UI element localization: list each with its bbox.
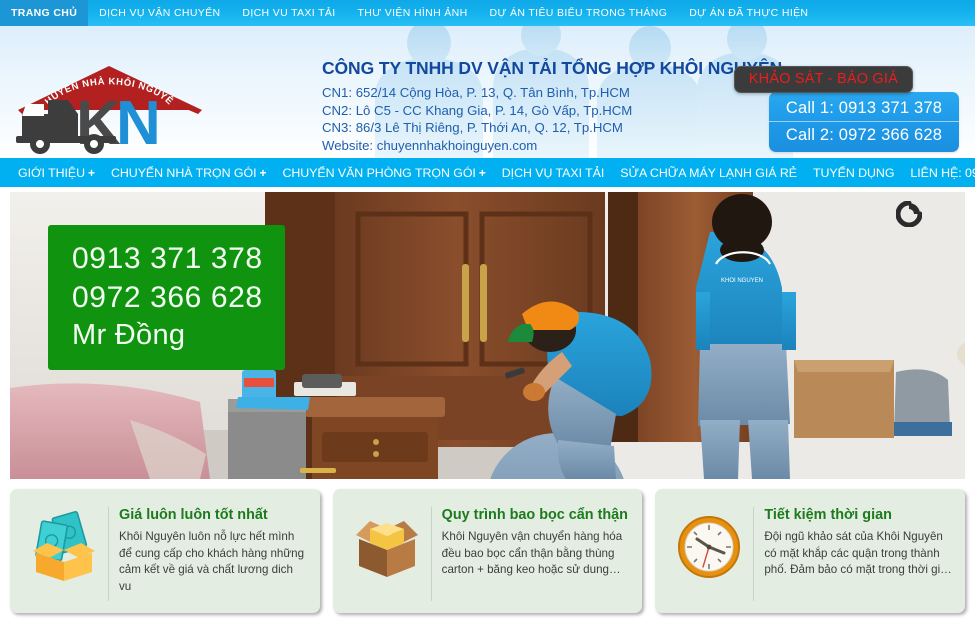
feature-cards: Giá luôn luôn tốt nhất Khôi Nguyên luôn …: [0, 479, 975, 613]
expand-plus-icon: +: [88, 166, 95, 180]
menu-item-label: CHUYỂN VĂN PHÒNG TRỌN GÓI: [282, 166, 475, 180]
topbar-item-label: THƯ VIỆN HÌNH ẢNH: [358, 7, 468, 19]
logo-graphic: CHUYỂN NHÀ KHÔI NGUYÊN K N: [12, 64, 208, 156]
company-logo[interactable]: CHUYỂN NHÀ KHÔI NGUYÊN K N: [12, 64, 208, 156]
loading-spinner-icon: [896, 201, 922, 227]
feature-card-packing[interactable]: Quy trình bao bọc cẩn thận Khôi Nguyên v…: [333, 489, 643, 613]
feature-card-time[interactable]: Tiết kiệm thời gian Đội ngũ khảo sát của…: [655, 489, 965, 613]
menu-item-label: LIÊN HỆ: 0913 371 378: [910, 166, 975, 180]
company-address-1: CN1: 652/14 Cộng Hòa, P. 13, Q. Tân Bình…: [322, 84, 782, 102]
hero-slider[interactable]: KHOI NGUYEN 0913 371 378 0972 366 628 M: [10, 192, 965, 479]
call-number-2[interactable]: Call 2: 0972 366 628: [769, 122, 959, 146]
company-address-2: CN2: Lô C5 - CC Khang Gia, P. 14, Gò Vấp…: [322, 102, 782, 120]
card-text: Khôi Nguyên vận chuyển hàng hóa đều bao …: [442, 529, 631, 579]
clock-icon: [667, 505, 751, 583]
menu-item-chuyen-van-phong-tron-goi[interactable]: CHUYỂN VĂN PHÒNG TRỌN GÓI +: [274, 158, 493, 187]
svg-text:KHOI NGUYEN: KHOI NGUYEN: [721, 278, 763, 284]
call-number-1[interactable]: Call 1: 0913 371 378: [769, 97, 959, 122]
card-title: Giá luôn luôn tốt nhất: [119, 506, 308, 524]
card-title: Tiết kiệm thời gian: [764, 506, 953, 524]
company-website[interactable]: Website: chuyennhakhoinguyen.com: [322, 137, 782, 155]
card-text: Đội ngũ khảo sát của Khôi Nguyên có mặt …: [764, 529, 953, 579]
topbar-item-dich-vu-van-chuyen[interactable]: DỊCH VỤ VẬN CHUYỂN: [88, 0, 231, 26]
menu-item-label: GIỚI THIỆU: [18, 166, 85, 180]
hero-phone-box: 0913 371 378 0972 366 628 Mr Đồng: [48, 225, 285, 370]
menu-item-tuyen-dung[interactable]: TUYỂN DỤNG: [805, 158, 902, 187]
company-address-3: CN3: 86/3 Lê Thị Riêng, P. Thới An, Q. 1…: [322, 119, 782, 137]
topbar-item-trang-chu[interactable]: TRANG CHỦ: [0, 0, 88, 26]
topbar-item-label: DỰ ÁN TIÊU BIỂU TRONG THÁNG: [490, 7, 668, 19]
top-navigation-bar: TRANG CHỦ DỊCH VỤ VẬN CHUYỂN DỊCH VU TAX…: [0, 0, 975, 26]
card-divider: [431, 507, 432, 601]
menu-item-dich-vu-taxi-tai[interactable]: DỊCH VỤ TAXI TẢI: [494, 158, 612, 187]
survey-quote-button[interactable]: KHẢO SÁT - BÁO GIÁ: [734, 66, 913, 93]
topbar-item-label: TRANG CHỦ: [11, 7, 77, 19]
carton-box-icon: [345, 505, 429, 583]
topbar-item-du-an-da-thuc-hien[interactable]: DỰ ÁN ĐÃ THỰC HIỆN: [678, 0, 819, 26]
main-navigation-menu: GIỚI THIỆU + CHUYỂN NHÀ TRỌN GÓI + CHUYỂ…: [0, 158, 975, 187]
card-divider: [108, 507, 109, 601]
menu-item-gioi-thieu[interactable]: GIỚI THIỆU +: [10, 158, 103, 187]
card-divider: [753, 507, 754, 601]
money-box-icon: [22, 505, 106, 583]
expand-plus-icon: +: [479, 166, 486, 180]
menu-item-label: SỬA CHỮA MÁY LẠNH GIÁ RẺ: [620, 166, 797, 180]
hero-phone-2[interactable]: 0972 366 628: [72, 278, 263, 317]
expand-plus-icon: +: [259, 166, 266, 180]
site-header: CHUYỂN NHÀ KHÔI NGUYÊN K N CÔNG TY TNHH …: [0, 26, 975, 158]
topbar-item-label: DỊCH VỤ VẬN CHUYỂN: [99, 7, 220, 19]
topbar-item-label: DỊCH VU TAXI TẢI: [242, 7, 335, 19]
menu-item-label: DỊCH VỤ TAXI TẢI: [502, 166, 604, 180]
company-name: CÔNG TY TNHH DV VẬN TẢI TỔNG HỢP KHÔI NG…: [322, 58, 782, 79]
hero-contact-name: Mr Đồng: [72, 317, 263, 354]
hero-phone-1[interactable]: 0913 371 378: [72, 239, 263, 278]
menu-item-label: TUYỂN DỤNG: [813, 166, 894, 180]
menu-item-chuyen-nha-tron-goi[interactable]: CHUYỂN NHÀ TRỌN GÓI +: [103, 158, 274, 187]
topbar-item-label: DỰ ÁN ĐÃ THỰC HIỆN: [689, 7, 808, 19]
logo-letter-n: N: [116, 89, 161, 156]
menu-item-lien-he[interactable]: LIÊN HỆ: 0913 371 378: [902, 158, 975, 187]
feature-card-price[interactable]: Giá luôn luôn tốt nhất Khôi Nguyên luôn …: [10, 489, 320, 613]
menu-item-sua-chua-may-lanh[interactable]: SỬA CHỮA MÁY LẠNH GIÁ RẺ: [612, 158, 805, 187]
company-info: CÔNG TY TNHH DV VẬN TẢI TỔNG HỢP KHÔI NG…: [322, 58, 782, 154]
topbar-item-thu-vien-hinh-anh[interactable]: THƯ VIỆN HÌNH ẢNH: [347, 0, 479, 26]
topbar-item-dich-vu-taxi-tai[interactable]: DỊCH VU TAXI TẢI: [231, 0, 346, 26]
topbar-item-du-an-tieu-bieu[interactable]: DỰ ÁN TIÊU BIỂU TRONG THÁNG: [479, 0, 679, 26]
call-box: Call 1: 0913 371 378 Call 2: 0972 366 62…: [769, 92, 959, 152]
menu-item-label: CHUYỂN NHÀ TRỌN GÓI: [111, 166, 256, 180]
card-text: Khôi Nguyên luôn nỗ lực hết mình để cung…: [119, 529, 308, 595]
card-title: Quy trình bao bọc cẩn thận: [442, 506, 631, 524]
